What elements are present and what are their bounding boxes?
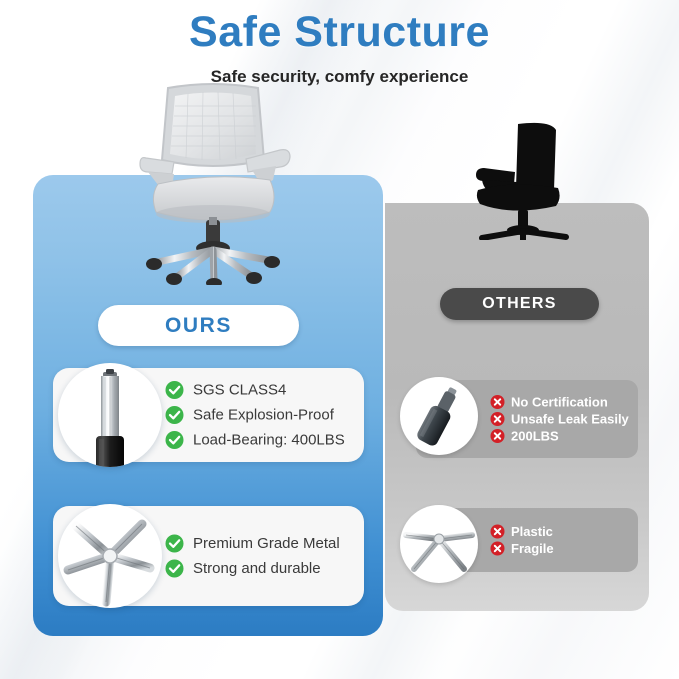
- cross-circle-icon: [490, 395, 505, 410]
- feature-label: Strong and durable: [193, 560, 321, 577]
- list-item: Load-Bearing: 400LBS: [165, 431, 345, 450]
- others-label-pill: OTHERS: [440, 288, 599, 320]
- check-circle-icon: [165, 559, 184, 578]
- feature-label: SGS CLASS4: [193, 382, 286, 399]
- check-circle-icon: [165, 534, 184, 553]
- feature-label: No Certification: [511, 395, 608, 410]
- feature-label: Fragile: [511, 541, 554, 556]
- header: Safe Structure Safe security, comfy expe…: [0, 8, 679, 87]
- feature-list: Plastic Fragile: [490, 524, 554, 556]
- feature-list: Premium Grade Metal Strong and durable: [165, 534, 340, 578]
- feature-list: SGS CLASS4 Safe Explosion-Proof Load-Bea…: [165, 381, 345, 450]
- black-office-chair-silhouette-icon: [462, 118, 587, 240]
- page-subtitle: Safe security, comfy experience: [0, 67, 679, 87]
- page-title: Safe Structure: [0, 8, 679, 57]
- plastic-five-star-base-icon: [400, 505, 478, 583]
- ours-label-pill: OURS: [98, 305, 299, 346]
- list-item: Fragile: [490, 541, 554, 556]
- feature-label: Unsafe Leak Easily: [511, 412, 629, 427]
- gray-mesh-office-chair-icon: [128, 80, 298, 285]
- infographic-canvas: Safe Structure Safe security, comfy expe…: [0, 0, 679, 679]
- feature-label: Premium Grade Metal: [193, 535, 340, 552]
- cross-circle-icon: [490, 541, 505, 556]
- feature-label: Load-Bearing: 400LBS: [193, 432, 345, 449]
- gas-cylinder-chrome-black-icon: [58, 363, 162, 467]
- list-item: 200LBS: [490, 429, 629, 444]
- feature-list: No Certification Unsafe Leak Easily 200L…: [490, 395, 629, 444]
- list-item: Plastic: [490, 524, 554, 539]
- cross-circle-icon: [490, 412, 505, 427]
- list-item: Premium Grade Metal: [165, 534, 340, 553]
- ours-label-text: OURS: [165, 314, 232, 338]
- others-label-text: OTHERS: [482, 295, 556, 313]
- cross-circle-icon: [490, 524, 505, 539]
- feature-label: 200LBS: [511, 429, 559, 444]
- cross-circle-icon: [490, 429, 505, 444]
- check-circle-icon: [165, 406, 184, 425]
- feature-label: Plastic: [511, 524, 553, 539]
- gas-cylinder-dark-icon: [400, 377, 478, 455]
- check-circle-icon: [165, 431, 184, 450]
- list-item: Unsafe Leak Easily: [490, 412, 629, 427]
- list-item: Strong and durable: [165, 559, 340, 578]
- list-item: Safe Explosion-Proof: [165, 406, 345, 425]
- chrome-five-star-base-icon: [58, 504, 162, 608]
- list-item: SGS CLASS4: [165, 381, 345, 400]
- check-circle-icon: [165, 381, 184, 400]
- list-item: No Certification: [490, 395, 629, 410]
- feature-label: Safe Explosion-Proof: [193, 407, 334, 424]
